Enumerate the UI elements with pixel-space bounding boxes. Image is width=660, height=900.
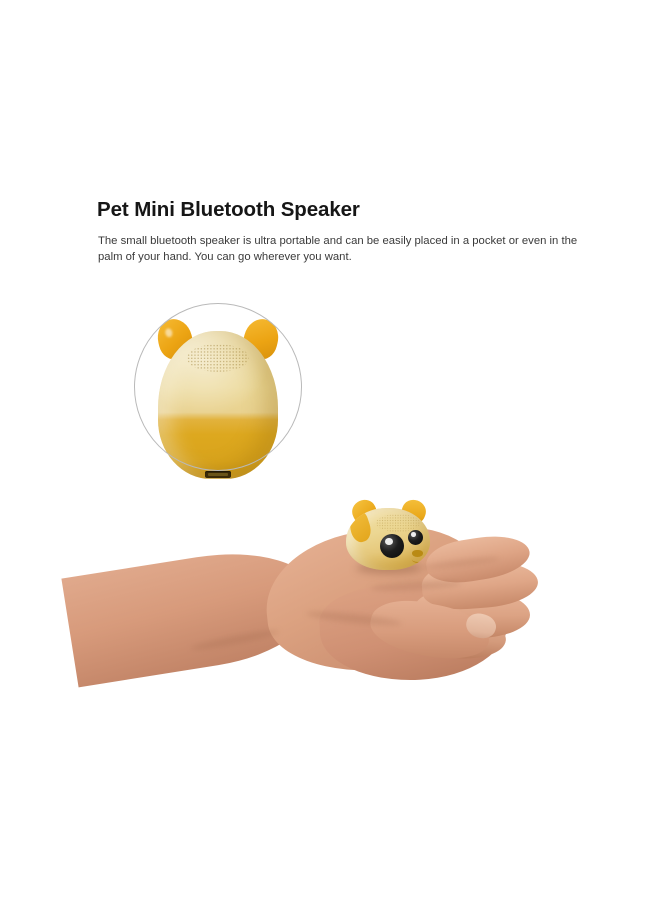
circle-product-shot xyxy=(134,303,302,471)
mini-speaker-eye-right xyxy=(408,530,423,545)
eye-highlight xyxy=(411,532,416,537)
product-description: The small bluetooth speaker is ultra por… xyxy=(98,234,590,265)
mini-speaker-body xyxy=(346,508,430,570)
mini-speaker-mouth xyxy=(412,556,424,563)
page-title: Pet Mini Bluetooth Speaker xyxy=(97,198,360,222)
mini-speaker-in-hand xyxy=(342,496,434,572)
eye-highlight xyxy=(385,538,393,545)
product-page: Pet Mini Bluetooth Speaker The small blu… xyxy=(0,0,660,900)
hand-photo xyxy=(70,486,540,716)
mini-speaker-side-marking xyxy=(346,510,374,545)
mini-speaker-eye-left xyxy=(380,534,404,558)
usb-port xyxy=(205,471,231,478)
usb-port-inner xyxy=(208,473,228,476)
circle-frame-outline xyxy=(134,303,302,471)
